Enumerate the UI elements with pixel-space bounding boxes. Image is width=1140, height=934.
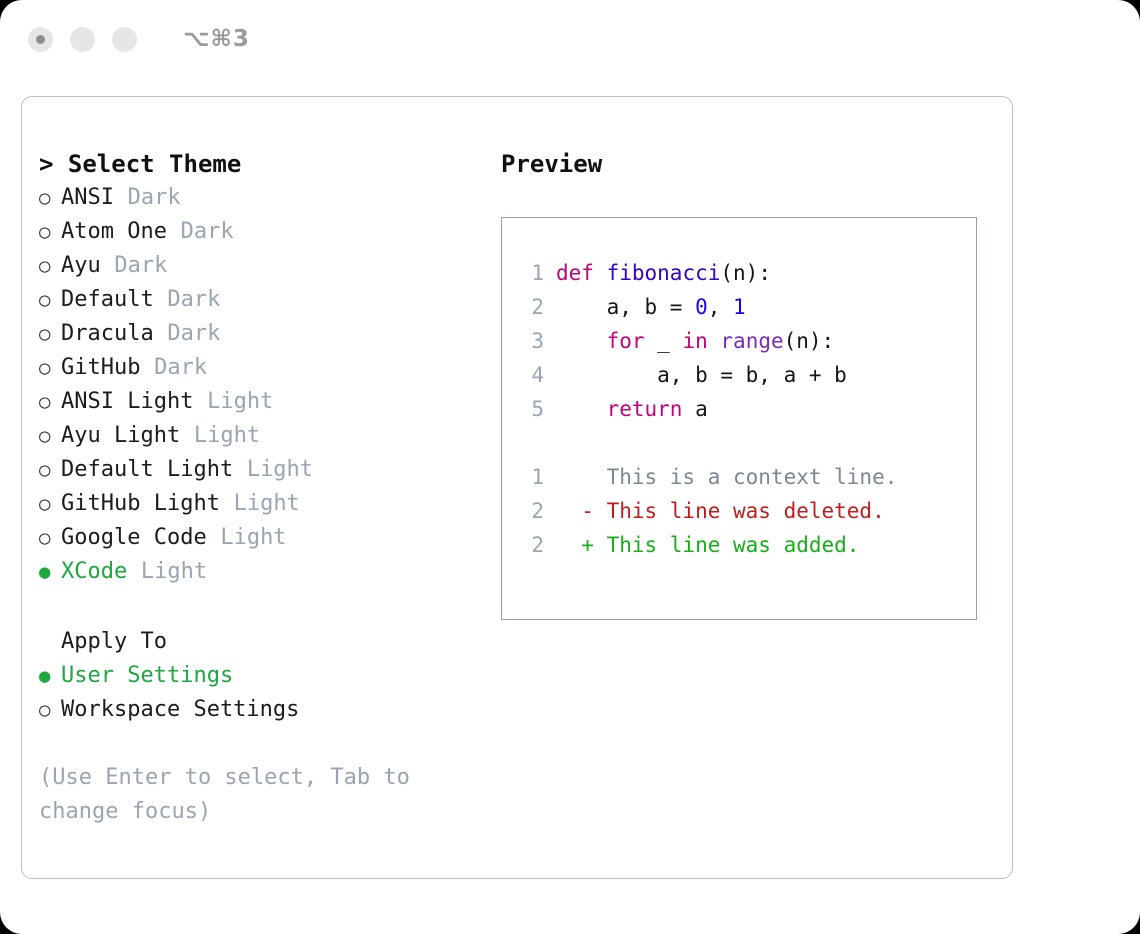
diff-line: 1 This is a context line. <box>516 460 976 494</box>
radio-unselected-icon[interactable]: ○ <box>39 283 61 317</box>
apply-to-row[interactable]: ●User Settings <box>39 659 489 693</box>
theme-variant-tag: Light <box>234 487 300 521</box>
diff-text: + This line was added. <box>556 528 859 562</box>
apply-to-list[interactable]: ●User Settings○Workspace Settings <box>39 659 489 727</box>
apply-to-section: Apply To ●User Settings○Workspace Settin… <box>39 625 489 727</box>
line-number: 5 <box>516 392 544 426</box>
theme-list[interactable]: ○ANSIDark○Atom OneDark○AyuDark○DefaultDa… <box>39 181 489 589</box>
code-token <box>708 329 721 353</box>
code-token: a, b = b, a + b <box>556 363 847 387</box>
theme-row[interactable]: ○Atom OneDark <box>39 215 489 249</box>
radio-selected-icon[interactable]: ● <box>39 659 61 693</box>
theme-row[interactable]: ○GitHubDark <box>39 351 489 385</box>
diff-text: - This line was deleted. <box>556 494 885 528</box>
code-token: for <box>607 329 645 353</box>
code-token: , <box>708 295 733 319</box>
code-line: 2 a, b = 0, 1 <box>516 290 976 324</box>
code-token: return <box>607 397 683 421</box>
code-text: a, b = 0, 1 <box>556 290 746 324</box>
code-diff-separator <box>516 426 976 460</box>
theme-row[interactable]: ○ANSIDark <box>39 181 489 215</box>
theme-row[interactable]: ○AyuDark <box>39 249 489 283</box>
radio-unselected-icon[interactable]: ○ <box>39 487 61 521</box>
code-token: in <box>682 329 707 353</box>
code-token: 1 <box>733 295 746 319</box>
radio-selected-icon[interactable]: ● <box>39 555 61 589</box>
code-token: (n): <box>720 261 771 285</box>
theme-name: ANSI Light <box>61 385 193 419</box>
code-line: 4 a, b = b, a + b <box>516 358 976 392</box>
columns: > Select Theme ○ANSIDark○Atom OneDark○Ay… <box>22 97 1012 878</box>
code-text: def fibonacci(n): <box>556 256 771 290</box>
theme-variant-tag: Dark <box>154 351 207 385</box>
theme-name: Atom One <box>61 215 167 249</box>
theme-name: GitHub <box>61 351 140 385</box>
code-line: 1def fibonacci(n): <box>516 256 976 290</box>
theme-row[interactable]: ○Default LightLight <box>39 453 489 487</box>
radio-unselected-icon[interactable]: ○ <box>39 215 61 249</box>
theme-name: Default Light <box>61 453 233 487</box>
theme-row[interactable]: ○DefaultDark <box>39 283 489 317</box>
radio-unselected-icon[interactable]: ○ <box>39 317 61 351</box>
content-frame: > Select Theme ○ANSIDark○Atom OneDark○Ay… <box>21 96 1013 879</box>
theme-row[interactable]: ○GitHub LightLight <box>39 487 489 521</box>
theme-name: Ayu Light <box>61 419 180 453</box>
code-text: return a <box>556 392 708 426</box>
theme-name: Ayu <box>61 249 101 283</box>
preview-panel: Preview 1def fibonacci(n):2 a, b = 0, 13… <box>501 147 991 620</box>
theme-name: Google Code <box>61 521 207 555</box>
code-token <box>594 261 607 285</box>
code-line: 3 for _ in range(n): <box>516 324 976 358</box>
radio-unselected-icon[interactable]: ○ <box>39 521 61 555</box>
theme-row[interactable]: ○Ayu LightLight <box>39 419 489 453</box>
code-token <box>556 329 607 353</box>
theme-variant-tag: Dark <box>167 283 220 317</box>
preview-box: 1def fibonacci(n):2 a, b = 0, 13 for _ i… <box>501 217 977 620</box>
theme-row[interactable]: ●XCodeLight <box>39 555 489 589</box>
diff-text: This is a context line. <box>556 460 897 494</box>
window-controls <box>28 27 137 52</box>
code-token: 0 <box>695 295 708 319</box>
theme-variant-tag: Dark <box>167 317 220 351</box>
window-dot-second-icon[interactable] <box>70 27 95 52</box>
theme-name: Dracula <box>61 317 154 351</box>
line-number: 3 <box>516 324 544 358</box>
code-text: for _ in range(n): <box>556 324 834 358</box>
window-dot-active-icon[interactable] <box>28 27 53 52</box>
theme-row[interactable]: ○ANSI LightLight <box>39 385 489 419</box>
radio-unselected-icon[interactable]: ○ <box>39 453 61 487</box>
theme-variant-tag: Light <box>194 419 260 453</box>
radio-unselected-icon[interactable]: ○ <box>39 249 61 283</box>
code-token: (n): <box>784 329 835 353</box>
line-number: 2 <box>516 290 544 324</box>
code-token: a, b = <box>556 295 695 319</box>
code-token: _ <box>645 329 683 353</box>
code-token: def <box>556 261 594 285</box>
code-sample: 1def fibonacci(n):2 a, b = 0, 13 for _ i… <box>516 256 976 426</box>
theme-variant-tag: Dark <box>114 249 167 283</box>
diff-line: 2 + This line was added. <box>516 528 976 562</box>
line-number: 4 <box>516 358 544 392</box>
code-token: a <box>682 397 707 421</box>
theme-row[interactable]: ○Google CodeLight <box>39 521 489 555</box>
line-number: 2 <box>516 494 544 528</box>
keyboard-shortcut-label: ⌥⌘3 <box>183 26 250 52</box>
theme-variant-tag: Light <box>141 555 207 589</box>
radio-unselected-icon[interactable]: ○ <box>39 181 61 215</box>
apply-to-label: Workspace Settings <box>61 693 299 727</box>
apply-to-label: User Settings <box>61 659 233 693</box>
title-bar: ⌥⌘3 <box>0 0 1140 78</box>
radio-unselected-icon[interactable]: ○ <box>39 693 61 727</box>
code-token <box>556 397 607 421</box>
radio-unselected-icon[interactable]: ○ <box>39 351 61 385</box>
code-token: fibonacci <box>607 261 721 285</box>
apply-to-heading: Apply To <box>39 625 489 659</box>
theme-panel: > Select Theme ○ANSIDark○Atom OneDark○Ay… <box>39 147 489 829</box>
keyboard-hint: (Use Enter to select, Tab to change focu… <box>39 761 439 829</box>
theme-name: GitHub Light <box>61 487 220 521</box>
theme-name: XCode <box>61 555 127 589</box>
line-number: 1 <box>516 460 544 494</box>
theme-variant-tag: Dark <box>181 215 234 249</box>
apply-to-row[interactable]: ○Workspace Settings <box>39 693 489 727</box>
app-window: ⌥⌘3 > Select Theme ○ANSIDark○Atom OneDar… <box>0 0 1140 934</box>
theme-variant-tag: Light <box>247 453 313 487</box>
line-number: 2 <box>516 528 544 562</box>
diff-line: 2 - This line was deleted. <box>516 494 976 528</box>
window-dot-inner <box>36 35 45 44</box>
preview-heading: Preview <box>501 147 991 181</box>
window-dot-third-icon[interactable] <box>112 27 137 52</box>
radio-unselected-icon[interactable]: ○ <box>39 385 61 419</box>
theme-row[interactable]: ○DraculaDark <box>39 317 489 351</box>
theme-name: Default <box>61 283 154 317</box>
select-theme-heading: > Select Theme <box>39 147 489 181</box>
theme-variant-tag: Light <box>220 521 286 555</box>
code-token: range <box>720 329 783 353</box>
code-text: a, b = b, a + b <box>556 358 847 392</box>
line-number: 1 <box>516 256 544 290</box>
diff-sample: 1 This is a context line.2 - This line w… <box>516 460 976 562</box>
theme-variant-tag: Light <box>207 385 273 419</box>
radio-unselected-icon[interactable]: ○ <box>39 419 61 453</box>
theme-name: ANSI <box>61 181 114 215</box>
theme-variant-tag: Dark <box>128 181 181 215</box>
code-line: 5 return a <box>516 392 976 426</box>
